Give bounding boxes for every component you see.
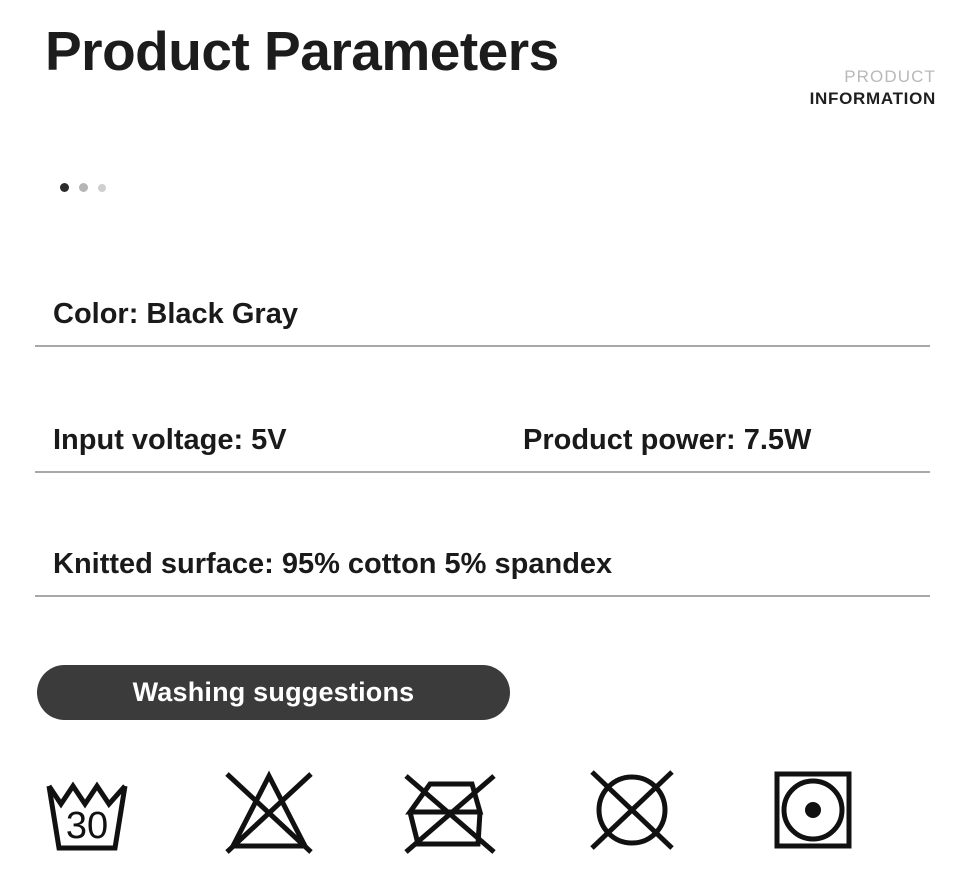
do-not-bleach-icon <box>217 758 321 862</box>
carousel-dot-2[interactable] <box>79 183 88 192</box>
carousel-dot-3[interactable] <box>98 184 106 192</box>
corner-label: PRODUCT INFORMATION <box>810 66 936 110</box>
spec-divider-power <box>35 471 930 473</box>
do-not-iron-icon <box>398 758 502 862</box>
spec-knitted-surface-value: Knitted surface: 95% cotton 5% spandex <box>35 548 930 581</box>
care-symbols-row: 30 <box>35 758 865 862</box>
corner-label-top: PRODUCT <box>810 66 936 88</box>
product-parameters-page: Product Parameters PRODUCT INFORMATION C… <box>0 0 965 879</box>
spec-color-value: Color: Black Gray <box>35 298 930 331</box>
spec-row-power: Input voltage: 5V Product power: 7.5W <box>35 424 930 473</box>
spec-divider-knitted <box>35 595 930 597</box>
spec-row-knitted-surface: Knitted surface: 95% cotton 5% spandex <box>35 548 930 597</box>
wash-30-icon: 30 <box>35 758 139 862</box>
spec-divider-color <box>35 345 930 347</box>
corner-label-bottom: INFORMATION <box>810 88 936 110</box>
page-title: Product Parameters <box>45 22 559 81</box>
svg-text:30: 30 <box>66 805 108 847</box>
carousel-dots[interactable] <box>60 183 106 192</box>
washing-suggestions-label: Washing suggestions <box>133 677 415 708</box>
tumble-dry-low-icon <box>761 758 865 862</box>
carousel-dot-1[interactable] <box>60 183 69 192</box>
washing-suggestions-button[interactable]: Washing suggestions <box>37 665 510 720</box>
do-not-dry-clean-icon <box>580 758 684 862</box>
spec-product-power-value: Product power: 7.5W <box>523 424 930 457</box>
spec-input-voltage-value: Input voltage: 5V <box>35 424 523 457</box>
spec-row-color: Color: Black Gray <box>35 298 930 347</box>
